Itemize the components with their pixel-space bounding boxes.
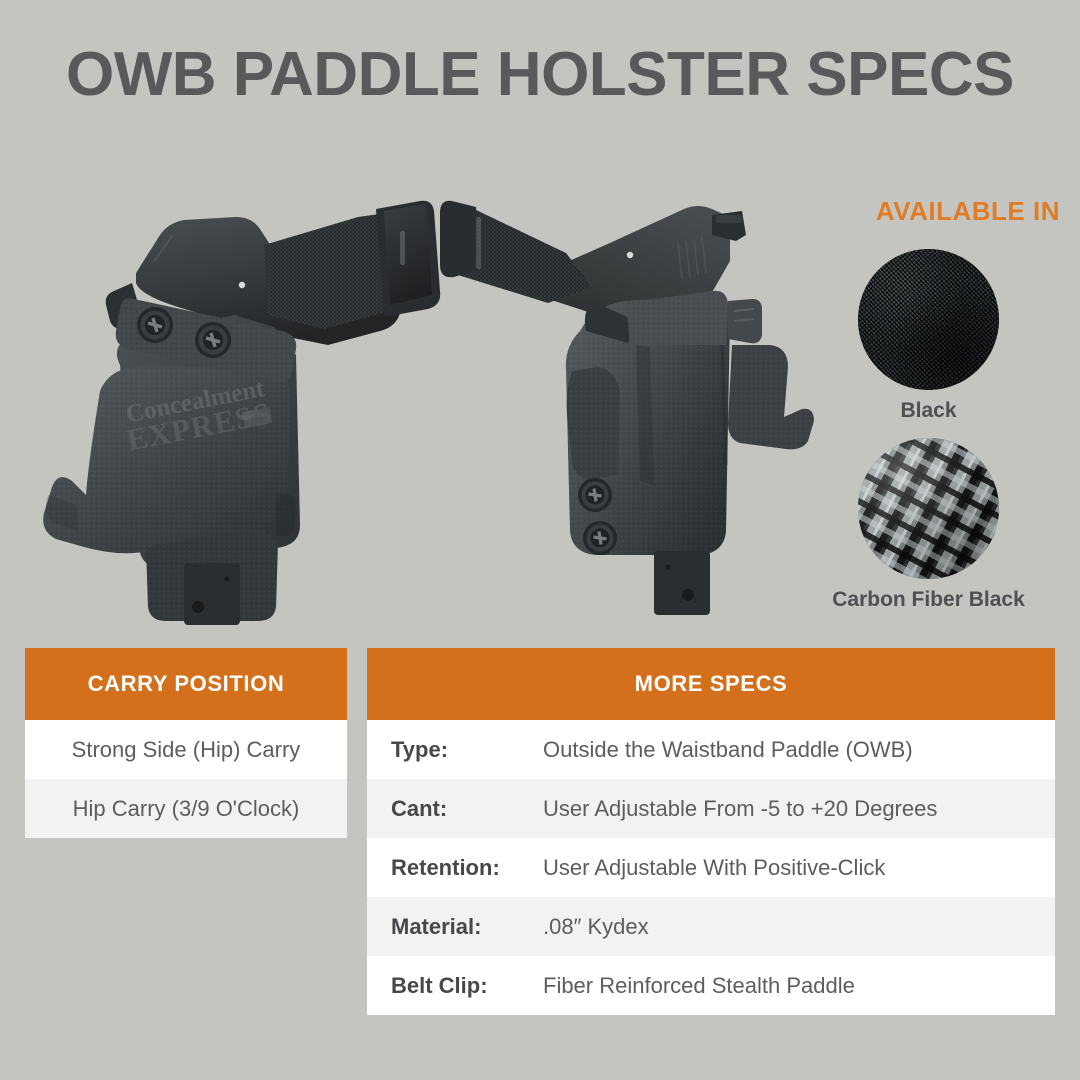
table-row: Strong Side (Hip) Carry bbox=[25, 720, 347, 779]
retention-screw bbox=[578, 478, 612, 512]
carry-position-value: Hip Carry (3/9 O'Clock) bbox=[73, 796, 300, 822]
table-row: Belt Clip: Fiber Reinforced Stealth Padd… bbox=[367, 956, 1055, 1015]
retention-screw bbox=[137, 307, 173, 343]
carry-position-header: CARRY POSITION bbox=[25, 648, 347, 720]
more-specs-header: MORE SPECS bbox=[367, 648, 1055, 720]
table-row: Hip Carry (3/9 O'Clock) bbox=[25, 779, 347, 838]
spec-value-material: .08″ Kydex bbox=[543, 914, 649, 940]
spec-value-type: Outside the Waistband Paddle (OWB) bbox=[543, 737, 913, 763]
texture-swatch-carbon-fiber-icon bbox=[858, 438, 999, 579]
spec-label-cant: Cant: bbox=[391, 796, 543, 822]
holster-front-view-image: Concealment EXPRESS bbox=[28, 195, 458, 625]
spec-label-material: Material: bbox=[391, 914, 543, 940]
table-row: Material: .08″ Kydex bbox=[367, 897, 1055, 956]
table-row: Type: Outside the Waistband Paddle (OWB) bbox=[367, 720, 1055, 779]
spec-value-cant: User Adjustable From -5 to +20 Degrees bbox=[543, 796, 937, 822]
carry-position-value: Strong Side (Hip) Carry bbox=[72, 737, 301, 763]
more-specs-table: MORE SPECS Type: Outside the Waistband P… bbox=[367, 648, 1055, 1015]
page-title: OWB PADDLE HOLSTER SPECS bbox=[0, 42, 1080, 107]
spec-value-retention: User Adjustable With Positive-Click bbox=[543, 855, 885, 881]
spec-label-type: Type: bbox=[391, 737, 543, 763]
table-row: Cant: User Adjustable From -5 to +20 Deg… bbox=[367, 779, 1055, 838]
carry-position-table: CARRY POSITION Strong Side (Hip) Carry H… bbox=[25, 648, 347, 838]
holster-rear-view-image bbox=[440, 195, 840, 625]
table-row: Retention: User Adjustable With Positive… bbox=[367, 838, 1055, 897]
spec-label-retention: Retention: bbox=[391, 855, 543, 881]
retention-screw bbox=[583, 521, 617, 555]
spec-value-belt-clip: Fiber Reinforced Stealth Paddle bbox=[543, 973, 855, 999]
spec-label-belt-clip: Belt Clip: bbox=[391, 973, 543, 999]
retention-screw bbox=[195, 322, 231, 358]
